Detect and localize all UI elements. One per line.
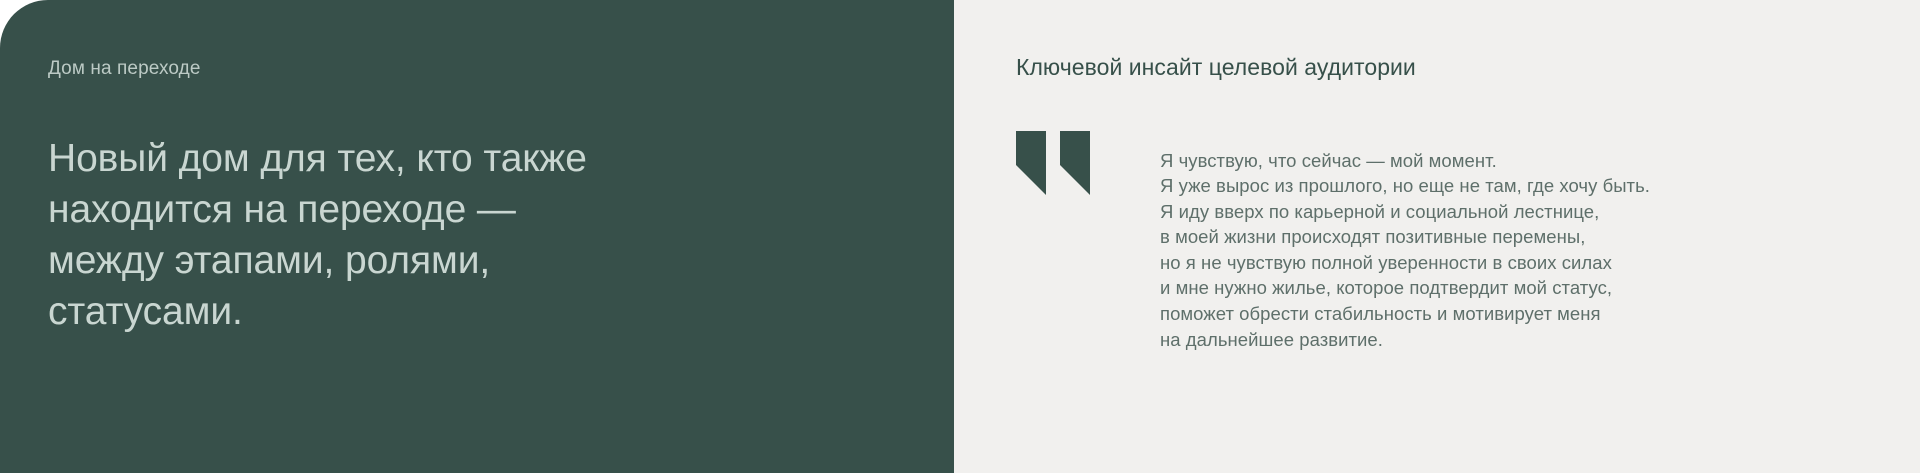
panel-headline: Новый дом для тех, кто также находится н… (48, 133, 688, 337)
slide-canvas: Дом на переходе Новый дом для тех, кто т… (0, 0, 1920, 473)
quote-line: Я уже вырос из прошлого, но еще не там, … (1160, 173, 1650, 199)
quote-line: Я иду вверх по карьерной и социальной ле… (1160, 199, 1650, 225)
quote-block: Я чувствую, что сейчас — мой момент. Я у… (1016, 129, 1880, 371)
left-statement-panel: Дом на переходе Новый дом для тех, кто т… (0, 0, 954, 473)
insight-heading: Ключевой инсайт целевой аудитории (1016, 52, 1880, 82)
headline-line: Новый дом для тех, кто также (48, 137, 587, 180)
headline-line: статусами. (48, 290, 243, 333)
double-quote-icon (1016, 131, 1090, 195)
right-insight-panel: Ключевой инсайт целевой аудитории Я чувс… (954, 0, 1920, 473)
quote-line: в моей жизни происходят позитивные перем… (1160, 224, 1650, 250)
panel-eyebrow-label: Дом на переходе (48, 56, 906, 82)
quote-line: но я не чувствую полной уверенности в св… (1160, 250, 1650, 276)
quote-line: и мне нужно жилье, которое подтвердит мо… (1160, 275, 1650, 301)
quote-line: поможет обрести стабильность и мотивируе… (1160, 301, 1650, 327)
quote-line: на дальнейшее развитие. (1160, 327, 1650, 353)
quote-line: Я чувствую, что сейчас — мой момент. (1160, 148, 1650, 174)
headline-line: между этапами, ролями, (48, 239, 490, 282)
insight-quote-text: Я чувствую, что сейчас — мой момент. Я у… (1160, 148, 1650, 353)
headline-line: находится на переходе — (48, 188, 516, 231)
